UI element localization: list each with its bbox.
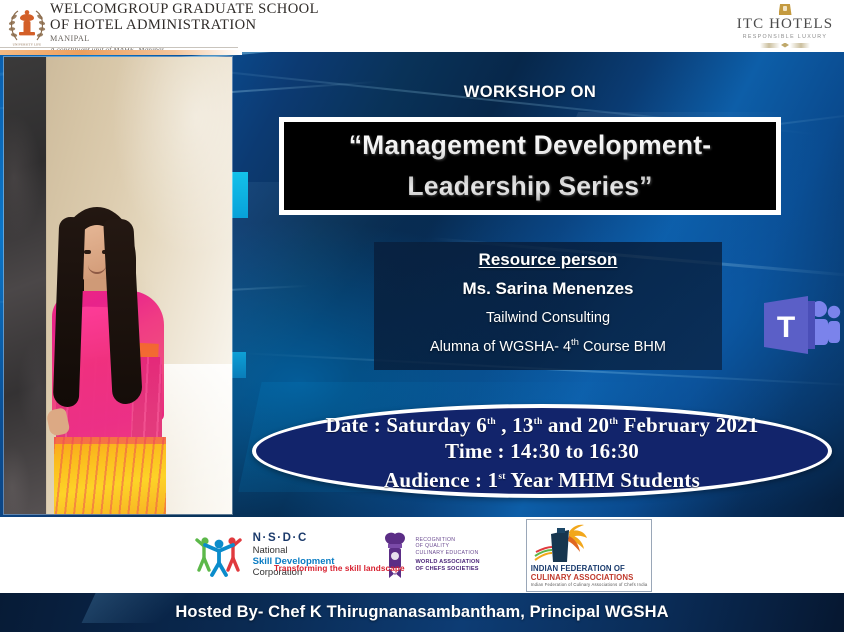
wacs-line-4: WORLD ASSOCIATION bbox=[415, 559, 479, 566]
partner-logo-strip: N·S·D·C National Skill Development Corpo… bbox=[0, 517, 844, 593]
event-time: Time : 14:30 to 16:30 bbox=[445, 438, 639, 464]
poster-footer: Hosted By- Chef K Thirugnanasambantham, … bbox=[0, 593, 844, 632]
institution-line-2: OF HOTEL ADMINISTRATION bbox=[50, 18, 319, 34]
speaker-eye-left bbox=[84, 250, 91, 254]
campus-label: MANIPAL bbox=[50, 34, 319, 45]
title-line-1: “Management Development- bbox=[349, 130, 712, 160]
date-mid-1: , 13 bbox=[496, 413, 534, 437]
workshop-poster: UNIVERSITY LIFE WELCOMGROUP GRADUATE SCH… bbox=[0, 0, 844, 632]
date-ordinal-3: th bbox=[609, 417, 618, 427]
date-mid-2: and 20 bbox=[542, 413, 609, 437]
date-ordinal-1: th bbox=[487, 417, 496, 427]
workshop-label: WORKSHOP ON bbox=[278, 83, 782, 102]
alumna-ordinal: th bbox=[571, 337, 579, 348]
ifca-palm-emblem-icon bbox=[531, 522, 589, 564]
photo-stone-wall bbox=[4, 57, 46, 514]
hosted-by-text: Hosted By- Chef K Thirugnanasambantham, … bbox=[175, 603, 668, 622]
event-date: Date : Saturday 6th , 13th and 20th Febr… bbox=[325, 409, 758, 438]
audience-ordinal: st bbox=[498, 472, 505, 482]
header-divider bbox=[0, 47, 238, 48]
teams-letter: T bbox=[777, 311, 795, 344]
resource-person-organization: Tailwind Consulting bbox=[374, 310, 722, 326]
itc-hotels-name: ITC HOTELS bbox=[735, 16, 835, 32]
nsdc-people-icon bbox=[192, 532, 246, 578]
ifca-line-1: INDIAN FEDERATION OF bbox=[531, 564, 648, 573]
bg-cyan-accent bbox=[232, 352, 246, 378]
speaker-saree-border bbox=[54, 437, 166, 514]
nsdc-line-1: National bbox=[253, 545, 335, 556]
svg-text:UNIVERSITY LIFE: UNIVERSITY LIFE bbox=[13, 43, 42, 47]
itc-hotels-logo: ITC HOTELS RESPONSIBLE LUXURY bbox=[735, 4, 835, 48]
header-accent-bar bbox=[0, 50, 242, 55]
wacs-line-3: CULINARY EDUCATION bbox=[415, 550, 479, 557]
page-title: “Management Development- Leadership Seri… bbox=[349, 125, 712, 207]
event-audience: Audience : 1st Year MHM Students bbox=[384, 464, 700, 493]
ifca-line-3: Indian Federation of Culinary Associatio… bbox=[531, 582, 648, 588]
resource-person-panel: Resource person Ms. Sarina Menenzes Tail… bbox=[374, 242, 722, 370]
nsdc-tagline: Transforming the skill landscape bbox=[274, 564, 424, 573]
itc-emblem-icon bbox=[779, 4, 792, 15]
event-details-oval: Date : Saturday 6th , 13th and 20th Febr… bbox=[252, 404, 832, 498]
alumna-suffix: Course BHM bbox=[579, 339, 666, 355]
wacs-line-5: OF CHEFS SOCIETIES bbox=[415, 566, 479, 573]
resource-person-alumna: Alumna of WGSHA- 4th Course BHM bbox=[374, 337, 722, 355]
resource-person-name: Ms. Sarina Menenzes bbox=[374, 279, 722, 299]
date-suffix: February 2021 bbox=[618, 413, 758, 437]
audience-prefix: Audience : 1 bbox=[384, 468, 498, 492]
title-line-2: Leadership Series” bbox=[407, 171, 652, 201]
workshop-title-box: “Management Development- Leadership Seri… bbox=[279, 117, 781, 215]
wacs-wordmark: RECOGNITION OF QUALITY CULINARY EDUCATIO… bbox=[415, 537, 479, 574]
ifca-logo-frame: INDIAN FEDERATION OF CULINARY ASSOCIATIO… bbox=[526, 519, 653, 592]
date-prefix: Date : Saturday 6 bbox=[325, 413, 486, 437]
microsoft-teams-icon: T bbox=[758, 293, 842, 357]
itc-hotels-tagline: RESPONSIBLE LUXURY bbox=[735, 34, 835, 40]
itc-flourish-icon bbox=[760, 43, 810, 48]
alumna-prefix: Alumna of WGSHA- 4 bbox=[430, 339, 571, 355]
audience-suffix: Year MHM Students bbox=[506, 468, 700, 492]
bg-cyan-accent bbox=[232, 172, 248, 218]
ifca-line-2: CULINARY ASSOCIATIONS bbox=[531, 573, 648, 582]
ifca-logo: INDIAN FEDERATION OF CULINARY ASSOCIATIO… bbox=[526, 519, 653, 592]
resource-person-heading: Resource person bbox=[374, 250, 722, 270]
nsdc-abbreviation: N·S·D·C bbox=[253, 532, 335, 545]
institution-line-1: WELCOMGROUP GRADUATE SCHOOL bbox=[50, 2, 319, 18]
poster-header: UNIVERSITY LIFE WELCOMGROUP GRADUATE SCH… bbox=[0, 0, 844, 50]
wgsha-crest-icon: UNIVERSITY LIFE bbox=[6, 4, 48, 48]
speaker-photo bbox=[4, 57, 232, 514]
